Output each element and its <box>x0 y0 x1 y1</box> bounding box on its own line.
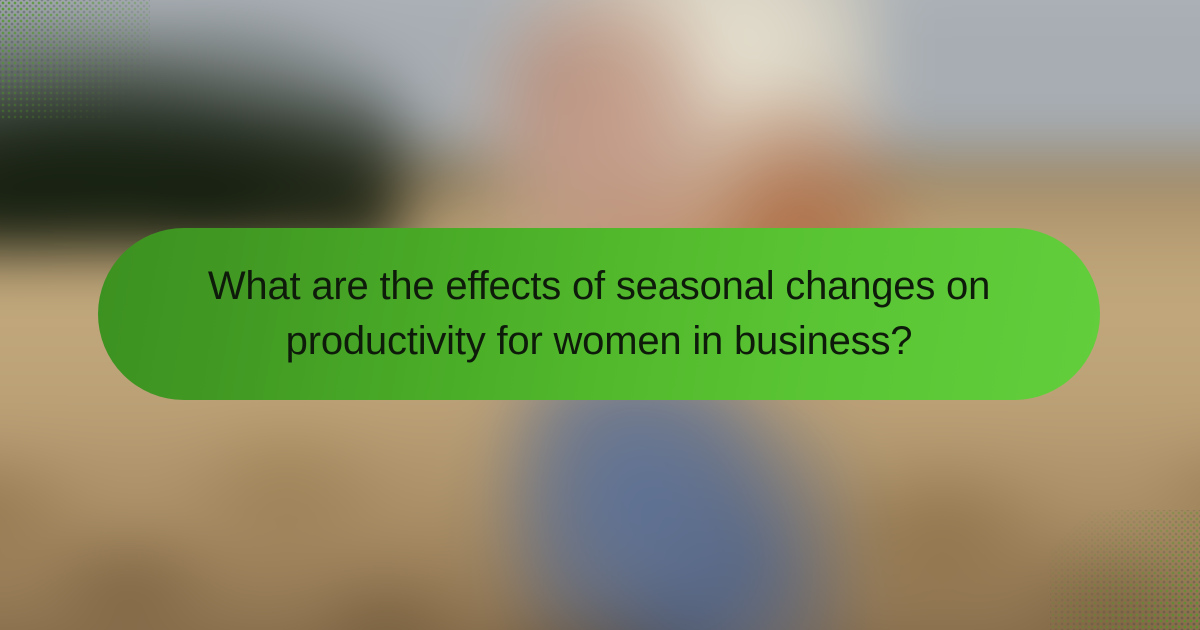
dot-grid-top-left <box>0 0 150 120</box>
headline-text: What are the effects of seasonal changes… <box>199 259 999 369</box>
dot-grid-bottom-right <box>1050 510 1200 630</box>
share-card: What are the effects of seasonal changes… <box>0 0 1200 630</box>
wheat-texture-layer <box>0 364 1200 630</box>
headline-banner: What are the effects of seasonal changes… <box>98 228 1100 400</box>
